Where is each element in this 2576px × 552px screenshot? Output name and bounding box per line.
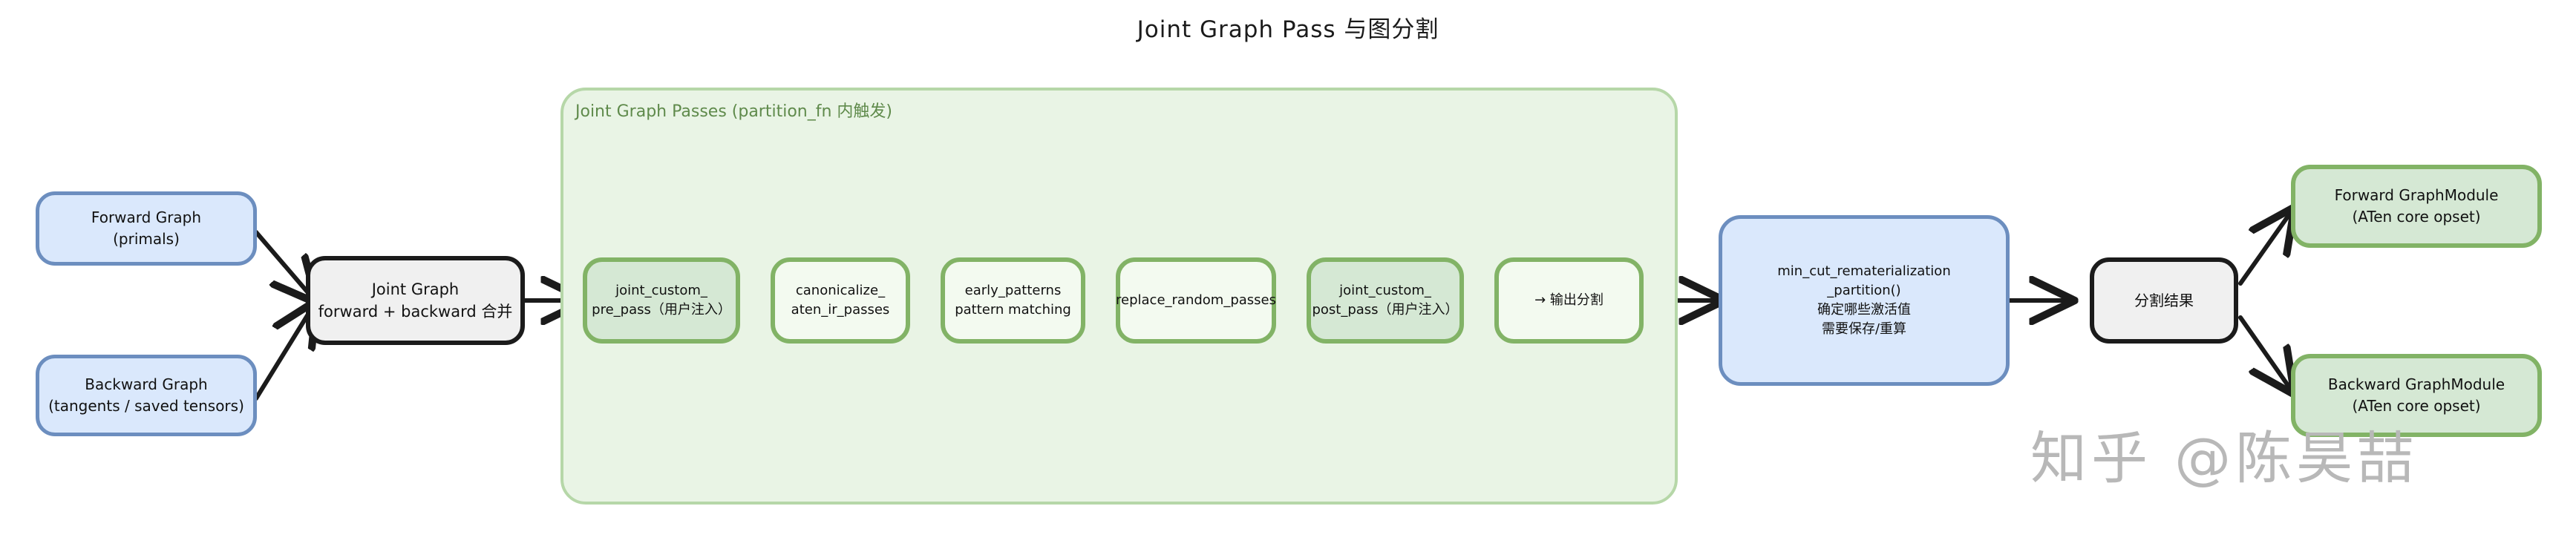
node-early-patterns[interactable]: early_patterns pattern matching [941,257,1085,344]
node-min-cut-partition-label: min_cut_rematerialization _partition() 确… [1777,262,1950,339]
node-backward-graphmodule-label: Backward GraphModule (ATen core opset) [2328,374,2505,417]
node-replace-random-passes[interactable]: replace_random_passes [1116,257,1276,344]
diagram-canvas: Joint Graph Pass 与图分割 [0,0,2576,552]
node-canonicalize-aten-ir-passes-label: canonicalize_ aten_ir_passes [791,281,890,320]
node-backward-graph-label: Backward Graph (tangents / saved tensors… [48,374,244,417]
node-early-patterns-label: early_patterns pattern matching [955,281,1071,320]
node-forward-graph[interactable]: Forward Graph (primals) [36,191,257,266]
node-joint-custom-pre-pass[interactable]: joint_custom_ pre_pass（用户注入） [583,257,740,344]
page-title: Joint Graph Pass 与图分割 [0,10,2576,44]
node-min-cut-partition[interactable]: min_cut_rematerialization _partition() 确… [1719,215,2010,386]
node-partition-result[interactable]: 分割结果 [2090,257,2238,344]
node-joint-graph-label: Joint Graph forward + backward 合并 [318,278,513,323]
watermark: 知乎 @陈昊喆 [2030,413,2418,494]
node-output-partition[interactable]: → 输出分割 [1494,257,1644,344]
node-joint-custom-pre-pass-label: joint_custom_ pre_pass（用户注入） [592,281,731,320]
node-forward-graph-label: Forward Graph (primals) [91,207,201,250]
node-joint-custom-post-pass-label: joint_custom_ post_pass（用户注入） [1312,281,1458,320]
node-forward-graphmodule-label: Forward GraphModule (ATen core opset) [2335,185,2499,228]
node-backward-graph[interactable]: Backward Graph (tangents / saved tensors… [36,355,257,436]
node-partition-result-label: 分割结果 [2134,290,2194,312]
node-replace-random-passes-label: replace_random_passes [1116,291,1276,310]
joint-graph-passes-group-label: Joint Graph Passes (partition_fn 内触发) [575,98,892,122]
node-joint-graph[interactable]: Joint Graph forward + backward 合并 [306,256,525,345]
node-forward-graphmodule[interactable]: Forward GraphModule (ATen core opset) [2291,165,2542,248]
node-output-partition-label: → 输出分割 [1534,291,1604,310]
node-canonicalize-aten-ir-passes[interactable]: canonicalize_ aten_ir_passes [771,257,910,344]
node-joint-custom-post-pass[interactable]: joint_custom_ post_pass（用户注入） [1307,257,1464,344]
